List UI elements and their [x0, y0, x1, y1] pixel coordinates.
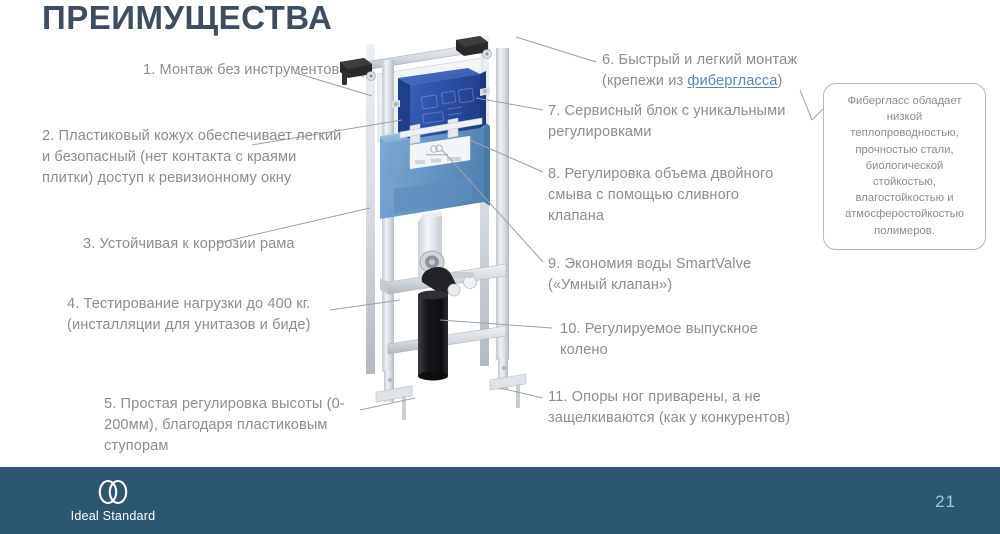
- page-number: 21: [935, 492, 956, 512]
- brand-logo: Ideal Standard: [48, 477, 178, 523]
- brand-name: Ideal Standard: [48, 509, 178, 523]
- page-title: ПРЕИМУЩЕСТВА: [42, 0, 332, 38]
- callout-7: 7. Сервисный блок с уникальными регулиро…: [548, 101, 803, 143]
- fiberglass-link[interactable]: фибергласса: [687, 73, 777, 89]
- callout-11: 11. Опоры ног приварены, а не защелкиваю…: [548, 387, 803, 429]
- callout-2: 2. Пластиковый кожух обеспечивает легкий…: [42, 126, 342, 189]
- callout-10: 10. Регулируемое выпускное колено: [560, 319, 800, 361]
- fiberglass-tooltip: Фибергласс обладает низкой теплопроводно…: [823, 83, 986, 250]
- two-interlocking-rings-icon: [89, 477, 137, 507]
- adjustable-feet: [376, 358, 526, 420]
- callout-6: 6. Быстрый и легкий монтаж (крепежи из ф…: [602, 50, 847, 92]
- callout-8: 8. Регулировка объема двойного смыва с п…: [548, 164, 793, 227]
- callout-6-text-after: ): [777, 73, 782, 89]
- slide-canvas: ПРЕИМУЩЕСТВА: [0, 0, 1000, 534]
- callout-5: 5. Простая регулировка высоты (0-200мм),…: [104, 394, 369, 457]
- callout-3: 3. Устойчивая к коррозии рама: [83, 234, 303, 255]
- callout-1: 1. Монтаж без инструментов: [143, 60, 353, 81]
- callout-4: 4. Тестирование нагрузки до 400 кг. (инс…: [67, 294, 337, 336]
- slide-footer: Ideal Standard 21: [0, 467, 1000, 534]
- black-outlet-pipe: [418, 267, 477, 381]
- callout-9: 9. Экономия воды SmartValve («Умный клап…: [548, 254, 798, 296]
